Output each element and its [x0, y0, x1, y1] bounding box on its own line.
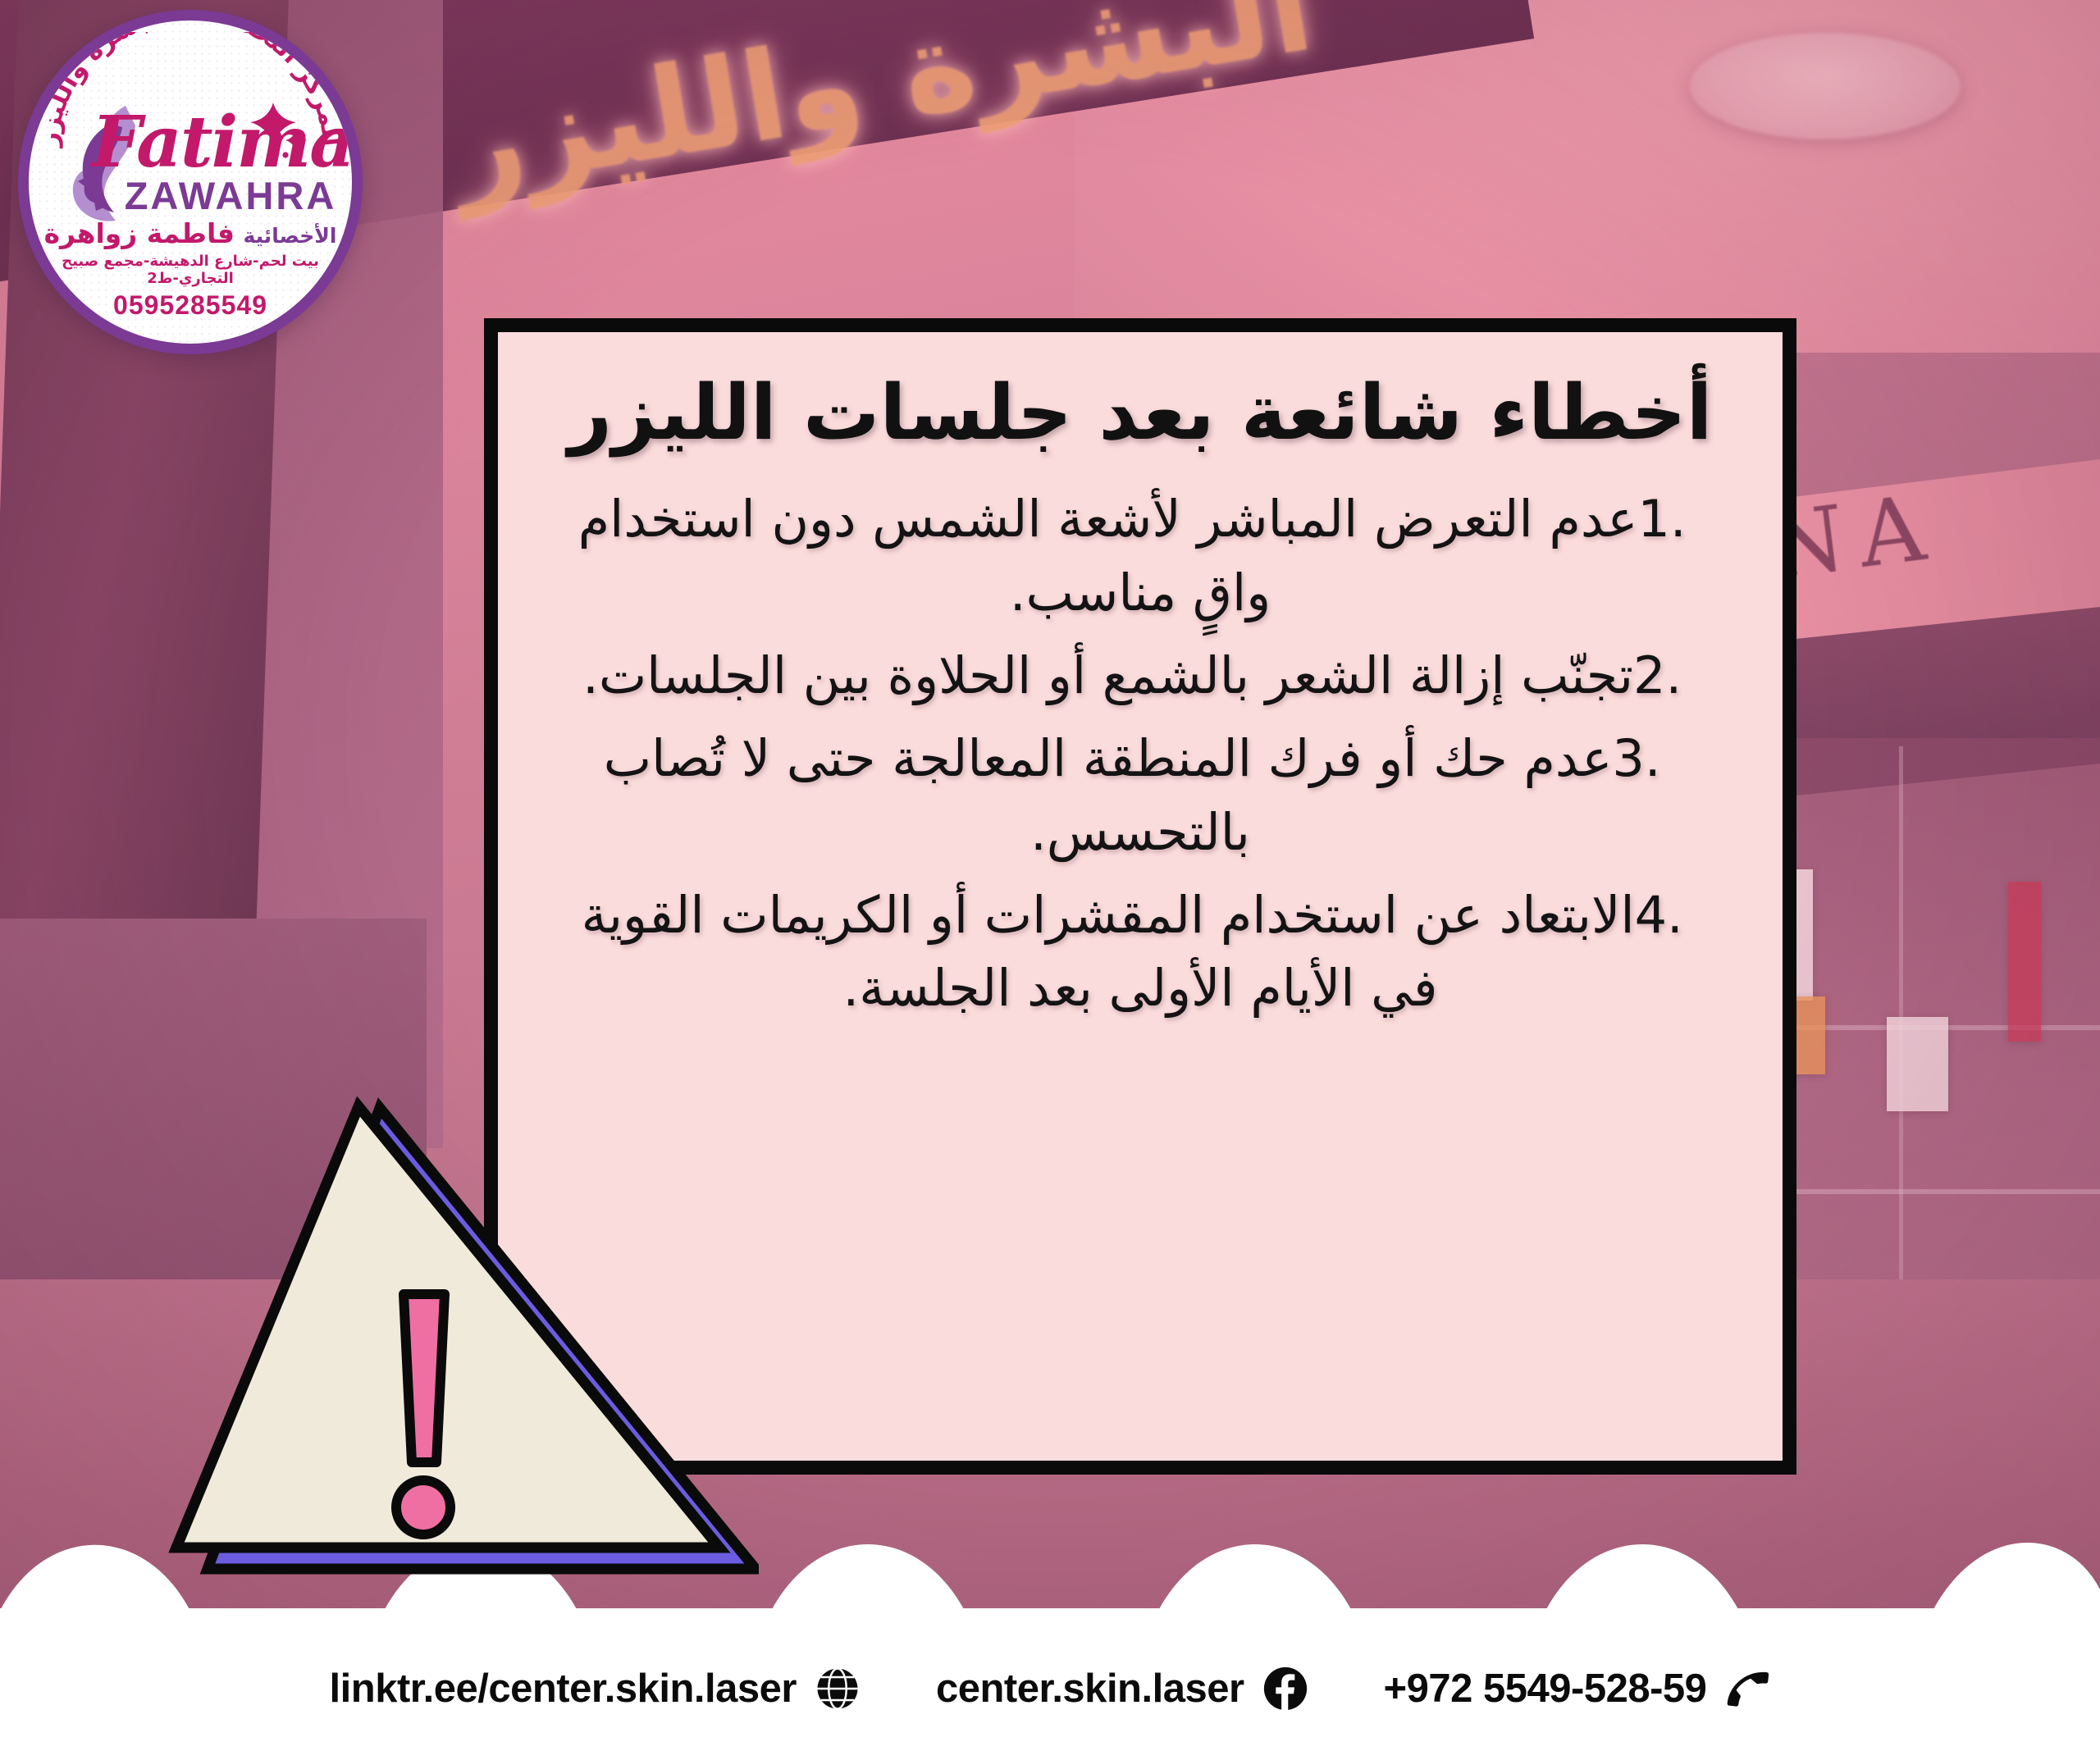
logo-specialist-line: الأخصائية فاطمة زواهرة: [29, 220, 352, 248]
facebook-label: center.skin.laser: [936, 1666, 1244, 1712]
logo-brand-secondary: ZAWAHRA: [107, 173, 354, 218]
clinic-logo-badge: المركز التخصصي للبشرة والليزر Fatima ZAW…: [18, 10, 363, 354]
list-item: عدم حك أو فرك المنطقة المعالجة حتى لا تُ…: [542, 722, 1738, 869]
contact-phone[interactable]: +972 5549-528-59: [1384, 1666, 1771, 1712]
logo-specialist-name: فاطمة زواهرة: [44, 217, 235, 249]
list-item: تجنّب إزالة الشعر بالشمع أو الحلاوة بين …: [542, 639, 1738, 712]
phone-label: +972 5549-528-59: [1384, 1666, 1707, 1712]
logo-brand-block: Fatima ZAWAHRA: [107, 109, 354, 218]
linktree-label: linktr.ee/center.skin.laser: [330, 1666, 797, 1712]
logo-phone: 0595285549: [29, 290, 352, 321]
logo-address: بيت لحم-شارع الدهيشة-مجمع صبيح التجاري-ط…: [29, 253, 352, 287]
footer-contact-bar: linktr.ee/center.skin.laser center.skin.…: [0, 1616, 2100, 1760]
window-notice-paper: [1887, 1017, 1948, 1111]
contact-linktree[interactable]: linktr.ee/center.skin.laser: [330, 1666, 861, 1712]
phone-icon: [1724, 1666, 1770, 1712]
warning-triangle-icon: [168, 1095, 759, 1595]
mistakes-list: عدم التعرض المباشر لأشعة الشمس دون استخد…: [542, 482, 1738, 1024]
list-item: عدم التعرض المباشر لأشعة الشمس دون استخد…: [542, 482, 1738, 629]
exclamation-bar: [404, 1294, 445, 1462]
page-title: أخطاء شائعة بعد جلسات الليزر: [542, 367, 1738, 459]
window-notice-strip-red: [2008, 882, 2041, 1042]
list-item: الابتعاد عن استخدام المقشرات أو الكريمات…: [542, 878, 1738, 1025]
logo-text-block: الأخصائية فاطمة زواهرة بيت لحم-شارع الده…: [29, 220, 352, 321]
exclamation-dot: [396, 1480, 450, 1534]
ceiling-light-fixture: [1690, 33, 1961, 139]
facebook-icon: [1262, 1666, 1308, 1712]
globe-icon: [815, 1666, 861, 1712]
logo-brand-primary: Fatima: [107, 109, 354, 176]
logo-specialist-prefix: الأخصائية: [243, 224, 336, 248]
contact-facebook[interactable]: center.skin.laser: [936, 1666, 1308, 1712]
poster-canvas: البشرة والليزر VINA linktr.ee/center.sk: [0, 0, 2100, 1760]
